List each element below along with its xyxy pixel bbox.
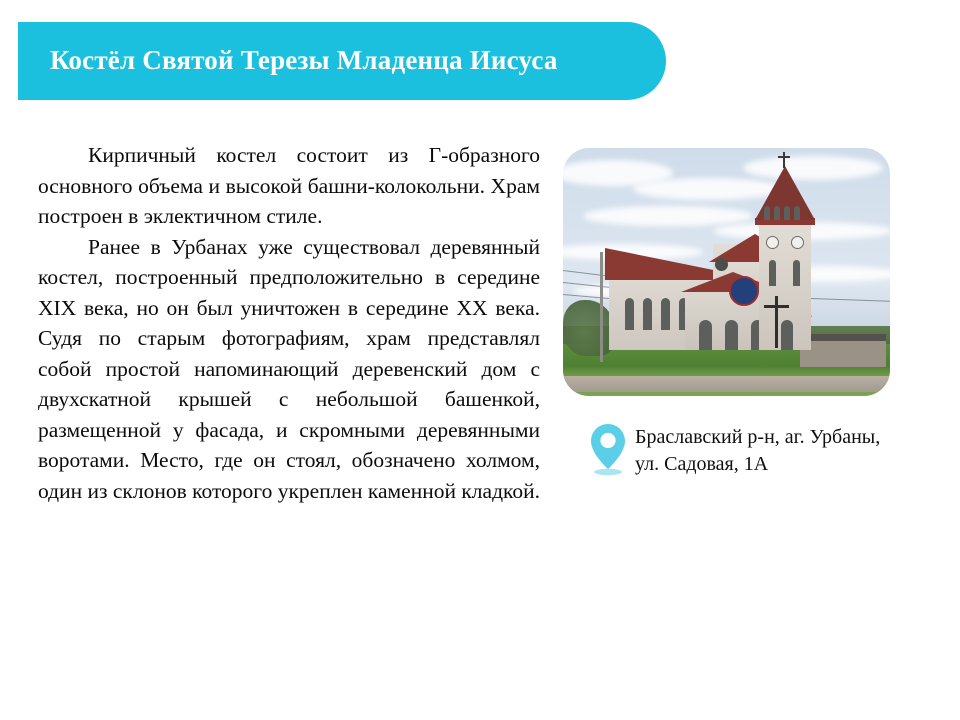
paragraph-1: Кирпичный костел состоит из Г-образного …: [38, 140, 540, 232]
nave-window: [625, 298, 634, 330]
tower-door: [781, 320, 793, 350]
yard-cross-icon: [775, 296, 778, 348]
road: [563, 376, 890, 392]
page-title: Костёл Святой Терезы Младенца Иисуса: [50, 46, 558, 76]
distant-barn: [800, 334, 886, 367]
belfry-opening: [794, 206, 800, 220]
photo-scene: [563, 148, 890, 396]
belfry-opening: [774, 206, 780, 220]
tower-clock: [791, 236, 804, 249]
cloud-shape: [583, 206, 753, 226]
map-pin-icon: [585, 420, 631, 478]
belfry-opening: [764, 206, 770, 220]
church-photo: [563, 148, 890, 396]
power-line: [811, 298, 890, 302]
bush: [563, 300, 615, 356]
body-text-block: Кирпичный костел состоит из Г-образного …: [38, 140, 540, 537]
address-label: Браславский р-н, аг. Урбаны, ул. Садовая…: [635, 420, 880, 478]
facade-icon-medallion: [729, 276, 759, 306]
porch-arch: [725, 320, 738, 350]
address-block: Браславский р-н, аг. Урбаны, ул. Садовая…: [585, 420, 880, 478]
tower-window: [793, 260, 800, 286]
tower-window: [769, 260, 776, 286]
utility-pole: [600, 252, 603, 362]
porch-arch: [699, 320, 712, 350]
cross-icon: [783, 152, 785, 168]
belfry-opening: [784, 206, 790, 220]
nave-window: [643, 298, 652, 330]
round-window: [715, 258, 728, 271]
title-banner: Костёл Святой Терезы Младенца Иисуса: [18, 22, 666, 100]
paragraph-2: Ранее в Урбанах уже существовал деревянн…: [38, 232, 540, 537]
nave-window: [661, 298, 670, 330]
tower-clock: [766, 236, 779, 249]
